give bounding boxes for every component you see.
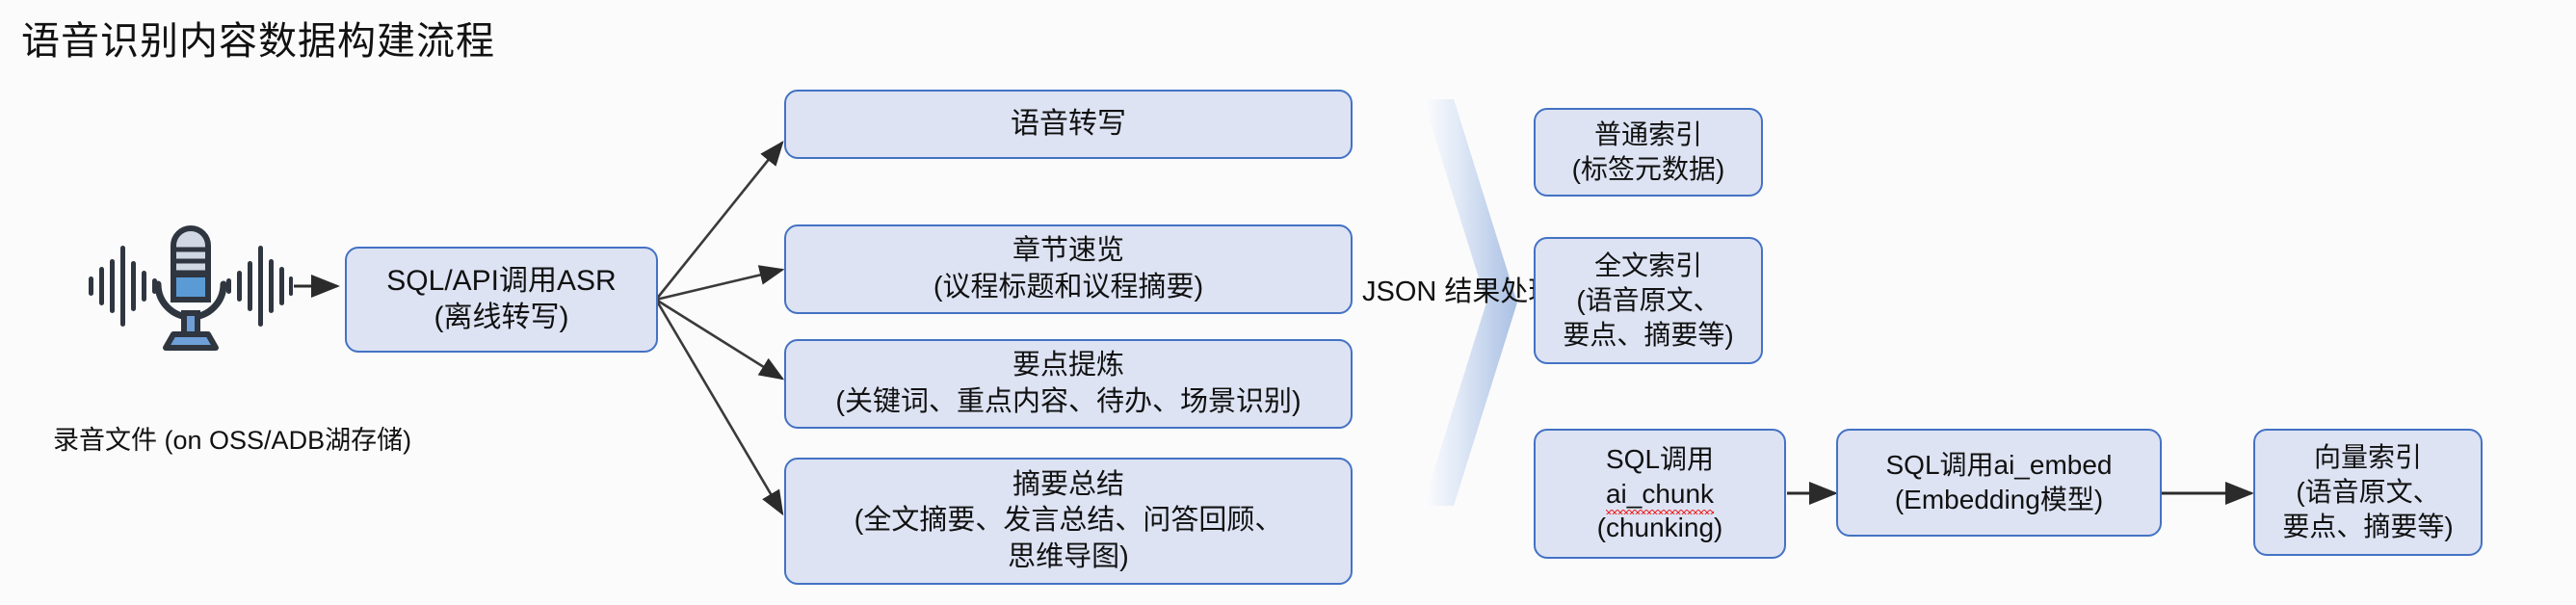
node-sql-ai-embed-line1: SQL调用ai_embed: [1885, 448, 2112, 483]
microphone-waveform-icon: [87, 217, 294, 361]
node-vector-index-line2: (语音原文、: [2296, 475, 2439, 510]
node-fulltext-index-line3: 要点、摘要等): [1563, 318, 1733, 353]
node-sql-ai-embed-line2: (Embedding模型): [1895, 483, 2103, 517]
node-speech-transcription-line1: 语音转写: [1011, 106, 1126, 143]
node-key-point-extraction-line1: 要点提炼: [1012, 348, 1124, 383]
node-chapter-overview-line1: 章节速览: [1012, 233, 1124, 269]
node-normal-index-line2: (标签元数据): [1572, 152, 1725, 187]
node-sql-ai-chunk-line3: (chunking): [1597, 511, 1723, 545]
node-summary-conclusion-line2: (全文摘要、发言总结、问答回顾、: [854, 503, 1283, 539]
node-asr-call-line1: SQL/API调用ASR: [386, 263, 616, 300]
node-summary-conclusion[interactable]: 摘要总结 (全文摘要、发言总结、问答回顾、 思维导图): [784, 458, 1353, 585]
node-vector-index-line3: 要点、摘要等): [2282, 510, 2453, 544]
node-chapter-overview[interactable]: 章节速览 (议程标题和议程摘要): [784, 224, 1353, 314]
node-normal-index[interactable]: 普通索引 (标签元数据): [1534, 108, 1763, 197]
node-asr-call-line2: (离线转写): [434, 300, 569, 336]
node-sql-ai-chunk-line1: SQL调用: [1606, 442, 1714, 477]
json-stage-label: JSON 结果处理: [1362, 275, 1492, 311]
source-caption-line1: 录音文件: [53, 426, 157, 455]
json-stage-label-line1: JSON: [1362, 276, 1436, 307]
node-fulltext-index[interactable]: 全文索引 (语音原文、 要点、摘要等): [1534, 237, 1763, 364]
source-caption-line2: (on OSS/ADB湖存储): [165, 426, 412, 455]
node-fulltext-index-line2: (语音原文、: [1576, 283, 1720, 318]
node-key-point-extraction-line2: (关键词、重点内容、待办、场景识别): [835, 384, 1301, 420]
page-title: 语音识别内容数据构建流程: [21, 10, 495, 66]
node-sql-ai-chunk-line2: ai_chunk: [1606, 477, 1714, 512]
node-vector-index[interactable]: 向量索引 (语音原文、 要点、摘要等): [2253, 429, 2483, 556]
node-asr-call[interactable]: SQL/API调用ASR (离线转写): [345, 247, 658, 353]
node-summary-conclusion-line1: 摘要总结: [1012, 467, 1124, 503]
diagram-canvas: 语音识别内容数据构建流程: [0, 0, 2576, 605]
node-chapter-overview-line2: (议程标题和议程摘要): [933, 270, 1203, 305]
node-sql-ai-embed[interactable]: SQL调用ai_embed (Embedding模型): [1836, 429, 2162, 537]
node-vector-index-line1: 向量索引: [2314, 440, 2422, 475]
node-fulltext-index-line1: 全文索引: [1594, 249, 1702, 283]
source-caption: 录音文件 (on OSS/ADB湖存储): [53, 424, 328, 458]
node-speech-transcription[interactable]: 语音转写: [784, 90, 1353, 159]
node-key-point-extraction[interactable]: 要点提炼 (关键词、重点内容、待办、场景识别): [784, 339, 1353, 429]
node-sql-ai-chunk[interactable]: SQL调用 ai_chunk (chunking): [1534, 429, 1786, 559]
node-summary-conclusion-line3: 思维导图): [1008, 539, 1129, 575]
node-normal-index-line1: 普通索引: [1594, 118, 1702, 152]
